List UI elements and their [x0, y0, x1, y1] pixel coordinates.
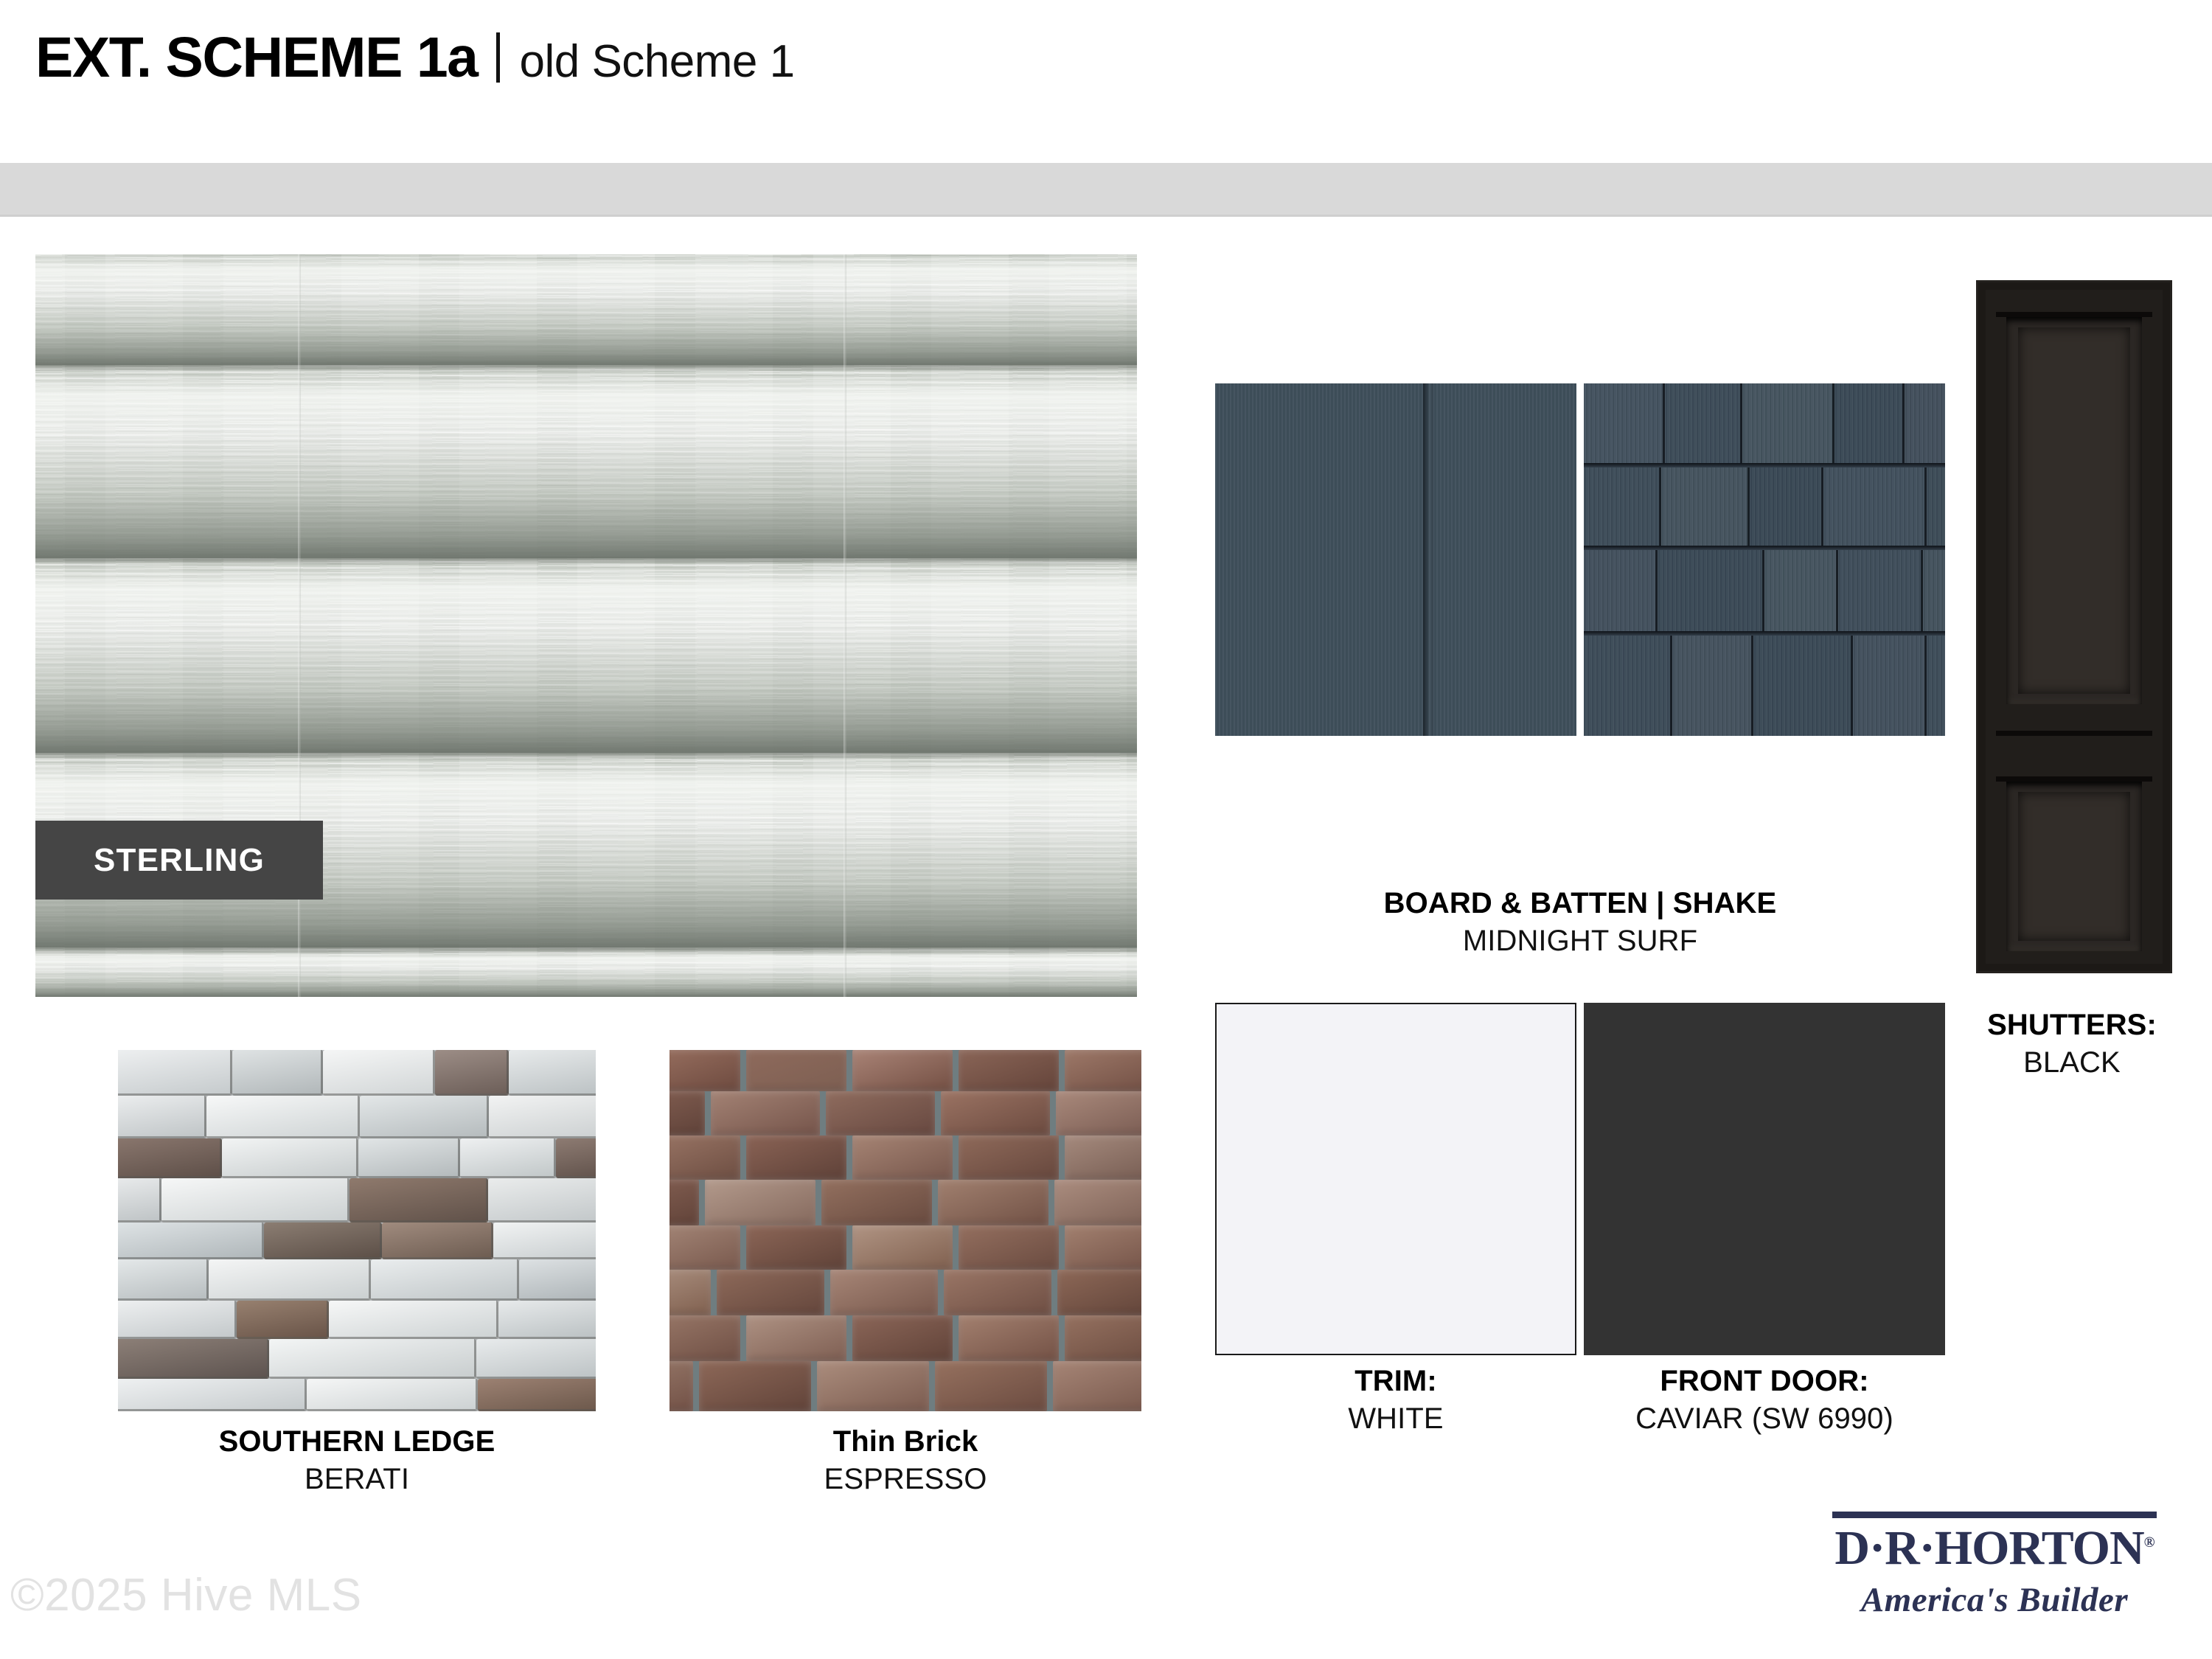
brick-name: Thin Brick — [640, 1423, 1171, 1460]
shutter-rail — [1996, 776, 2152, 782]
shake-course — [1584, 467, 1945, 546]
stone-course — [118, 1096, 596, 1138]
board-batten-shake-name: BOARD & BATTEN | SHAKE — [1215, 885, 1945, 922]
header-divider-band — [0, 163, 2212, 217]
brick-color-name: ESPRESSO — [640, 1460, 1171, 1498]
brick-course — [669, 1135, 1141, 1180]
shutters-name: SHUTTERS: — [1932, 1006, 2212, 1043]
stone-course — [118, 1259, 596, 1301]
brick-swatch — [669, 1050, 1141, 1411]
brick-course — [669, 1091, 1141, 1135]
siding-lap-course — [35, 563, 1137, 753]
board-and-batten-swatch — [1215, 383, 1576, 736]
stone-swatch — [118, 1050, 596, 1411]
front-door-color-swatch — [1584, 1003, 1945, 1355]
stone-course — [118, 1222, 596, 1259]
stone-course — [118, 1379, 596, 1411]
shutter-rail — [1996, 312, 2152, 317]
batten-strip — [1423, 383, 1433, 736]
stone-course — [118, 1301, 596, 1339]
board-batten-shake-color-name: MIDNIGHT SURF — [1215, 922, 1945, 960]
brick-course — [669, 1361, 1141, 1411]
trim-color-swatch — [1215, 1003, 1576, 1355]
siding-seam — [844, 254, 846, 997]
shutter-frame — [1986, 290, 2163, 964]
trim-name: TRIM: — [1193, 1363, 1599, 1399]
page-title: EXT. SCHEME 1a old Scheme 1 — [35, 27, 795, 86]
logo-brand-name: D·R·HORTON® — [1834, 1524, 2154, 1573]
mls-watermark: ©2025 Hive MLS — [10, 1569, 362, 1621]
siding-color-tag: STERLING — [35, 821, 323, 900]
shutter-upper-panel — [2006, 317, 2142, 704]
siding-color-tag-label: STERLING — [94, 842, 265, 879]
trim-color-name: WHITE — [1193, 1399, 1599, 1438]
stone-course — [118, 1050, 596, 1096]
shutter-rail — [1996, 731, 2152, 736]
shutters-caption: SHUTTERS: BLACK — [1932, 1006, 2212, 1082]
shake-course — [1584, 636, 1945, 736]
shake-swatch — [1584, 383, 1945, 736]
title-main: EXT. SCHEME 1a — [35, 29, 477, 86]
board-batten-shake-caption: BOARD & BATTEN | SHAKE MIDNIGHT SURF — [1215, 885, 1945, 960]
shake-course — [1584, 550, 1945, 631]
stone-course — [118, 1178, 596, 1222]
title-separator-rule — [496, 32, 500, 83]
stone-course — [118, 1339, 596, 1379]
brick-course — [669, 1180, 1141, 1225]
brick-course — [669, 1225, 1141, 1270]
stone-color-name: BERATI — [88, 1460, 625, 1498]
brick-caption: Thin Brick ESPRESSO — [640, 1423, 1171, 1498]
dr-horton-logo: D·R·HORTON® America's Builder — [1821, 1512, 2168, 1620]
shutter-swatch — [1976, 280, 2172, 973]
siding-lap-course — [35, 369, 1137, 558]
brick-course — [669, 1050, 1141, 1091]
stone-name: SOUTHERN LEDGE — [88, 1423, 625, 1460]
siding-lap-course — [35, 952, 1137, 997]
logo-tagline: America's Builder — [1821, 1580, 2168, 1620]
stone-caption: SOUTHERN LEDGE BERATI — [88, 1423, 625, 1498]
shutters-color-name: BLACK — [1932, 1043, 2212, 1082]
title-subtitle: old Scheme 1 — [519, 39, 794, 85]
front-door-name: FRONT DOOR: — [1562, 1363, 1967, 1399]
shake-course — [1584, 383, 1945, 463]
exterior-scheme-board: EXT. SCHEME 1a old Scheme 1 STERLING — [0, 0, 2212, 1659]
trim-caption: TRIM: WHITE — [1193, 1363, 1599, 1438]
registered-trademark-icon: ® — [2144, 1534, 2154, 1551]
brick-course — [669, 1270, 1141, 1315]
stone-course — [118, 1138, 596, 1178]
board-batten-texture — [1215, 383, 1576, 736]
front-door-color-name: CAVIAR (SW 6990) — [1562, 1399, 1967, 1438]
logo-brand-text: D·R·HORTON — [1834, 1521, 2143, 1575]
brick-course — [669, 1315, 1141, 1361]
shutter-lower-panel — [2006, 782, 2142, 951]
front-door-caption: FRONT DOOR: CAVIAR (SW 6990) — [1562, 1363, 1967, 1438]
siding-lap-course — [35, 254, 1137, 365]
logo-rule — [1832, 1512, 2157, 1518]
